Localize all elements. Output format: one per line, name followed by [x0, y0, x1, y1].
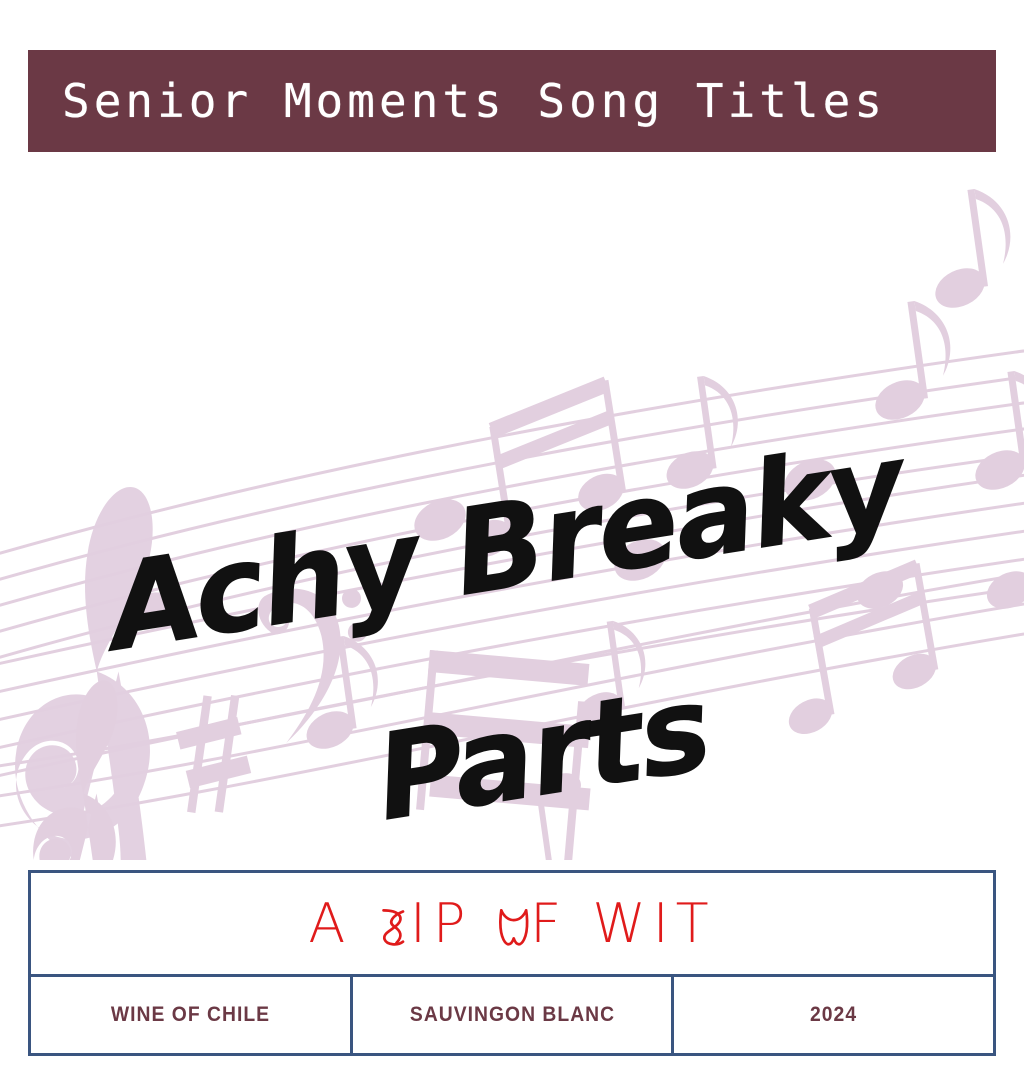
brand-letters-ip: IP [410, 892, 473, 955]
info-cell-varietal-label: SAUVINGON BLANC [409, 1003, 614, 1027]
artwork-area: Achy Breaky Parts [0, 170, 1024, 860]
info-cell-origin: WINE OF CHILE [31, 977, 350, 1053]
brand-letter-a: A [308, 892, 352, 955]
wine-label-table: A IP F WIT WINE OF CHILE SAUVINGON BLANC… [28, 870, 996, 1056]
music-staff-background [0, 170, 1024, 860]
info-cell-vintage-label: 2024 [810, 1003, 857, 1027]
brand-row: A IP F WIT [31, 873, 993, 977]
info-row: WINE OF CHILE SAUVINGON BLANC 2024 [31, 977, 993, 1053]
header-banner: Senior Moments Song Titles [28, 50, 996, 152]
brand-letters-wit: WIT [592, 892, 715, 955]
brand-stylized-s-icon [376, 905, 409, 948]
info-cell-origin-label: WINE OF CHILE [111, 1003, 270, 1027]
info-cell-varietal: SAUVINGON BLANC [350, 977, 672, 1053]
brand-letter-f: F [530, 892, 568, 955]
music-note-glyphs [15, 185, 1024, 860]
brand-name: A IP F WIT [308, 897, 715, 951]
page-title: Senior Moments Song Titles [62, 78, 886, 124]
brand-stylized-o-icon [497, 905, 530, 948]
info-cell-vintage: 2024 [671, 977, 993, 1053]
